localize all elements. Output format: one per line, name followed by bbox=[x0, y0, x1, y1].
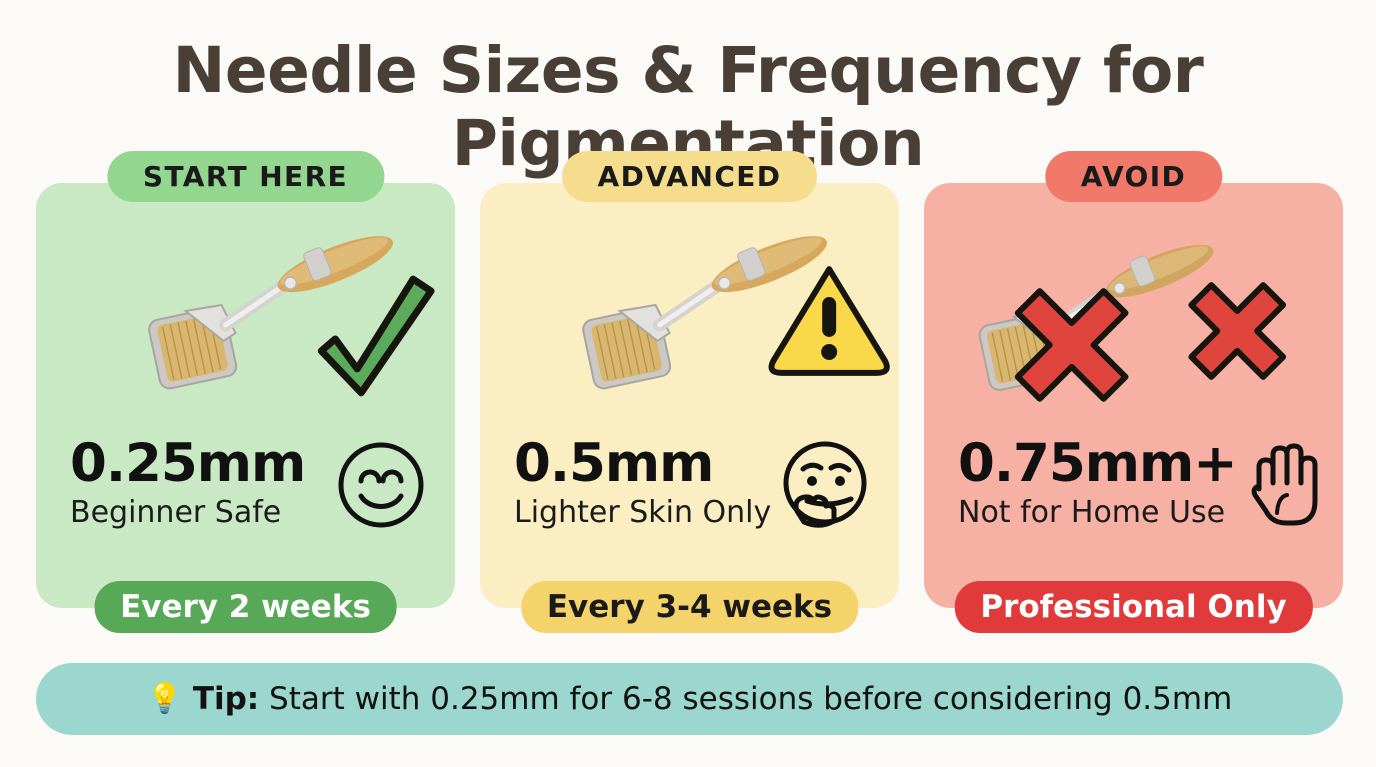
smiling-face-icon bbox=[335, 439, 427, 536]
card-info: 0.5mm Lighter Skin Only bbox=[514, 435, 879, 536]
card-marker bbox=[480, 221, 899, 421]
card-advanced[interactable]: ADVANCED bbox=[480, 183, 899, 608]
red-cross-icon bbox=[1018, 285, 1283, 399]
card-info-text: 0.5mm Lighter Skin Only bbox=[514, 435, 771, 529]
frequency-pill: Every 3-4 weeks bbox=[521, 581, 858, 633]
needle-subtitle: Beginner Safe bbox=[70, 496, 305, 529]
warning-triangle-icon bbox=[772, 269, 887, 373]
needle-subtitle: Not for Home Use bbox=[958, 496, 1237, 529]
thinking-face-icon bbox=[779, 439, 871, 536]
needle-size: 0.5mm bbox=[514, 437, 771, 491]
card-marker bbox=[36, 221, 455, 421]
card-badge: ADVANCED bbox=[562, 151, 818, 202]
card-info: 0.25mm Beginner Safe bbox=[70, 435, 435, 536]
card-info: 0.75mm+ Not for Home Use bbox=[958, 435, 1323, 536]
needle-subtitle: Lighter Skin Only bbox=[514, 496, 771, 529]
frequency-pill: Every 2 weeks bbox=[94, 581, 397, 633]
tip-bar: 💡 Tip: Start with 0.25mm for 6-8 session… bbox=[36, 663, 1343, 735]
card-info-text: 0.25mm Beginner Safe bbox=[70, 435, 305, 529]
needle-size: 0.75mm+ bbox=[958, 437, 1237, 491]
tip-text: Tip: Start with 0.25mm for 6-8 sessions … bbox=[193, 681, 1232, 717]
card-start-here[interactable]: START HERE bbox=[36, 183, 455, 608]
needle-size: 0.25mm bbox=[70, 437, 305, 491]
frequency-pill: Professional Only bbox=[954, 581, 1312, 633]
infographic-page: Needle Sizes & Frequency for Pigmentatio… bbox=[0, 0, 1376, 767]
card-marker bbox=[924, 221, 1343, 421]
light-bulb-icon: 💡 bbox=[147, 685, 183, 714]
card-info-text: 0.75mm+ Not for Home Use bbox=[958, 435, 1237, 529]
green-check-icon bbox=[321, 279, 431, 393]
tip-label: Tip: bbox=[193, 681, 259, 717]
tip-body: Start with 0.25mm for 6-8 sessions befor… bbox=[259, 681, 1232, 717]
card-avoid[interactable]: AVOID bbox=[924, 183, 1343, 608]
raised-hand-icon bbox=[1237, 439, 1329, 536]
cards-row: START HERE bbox=[36, 183, 1343, 608]
card-badge: START HERE bbox=[107, 151, 384, 202]
card-badge: AVOID bbox=[1045, 151, 1222, 202]
